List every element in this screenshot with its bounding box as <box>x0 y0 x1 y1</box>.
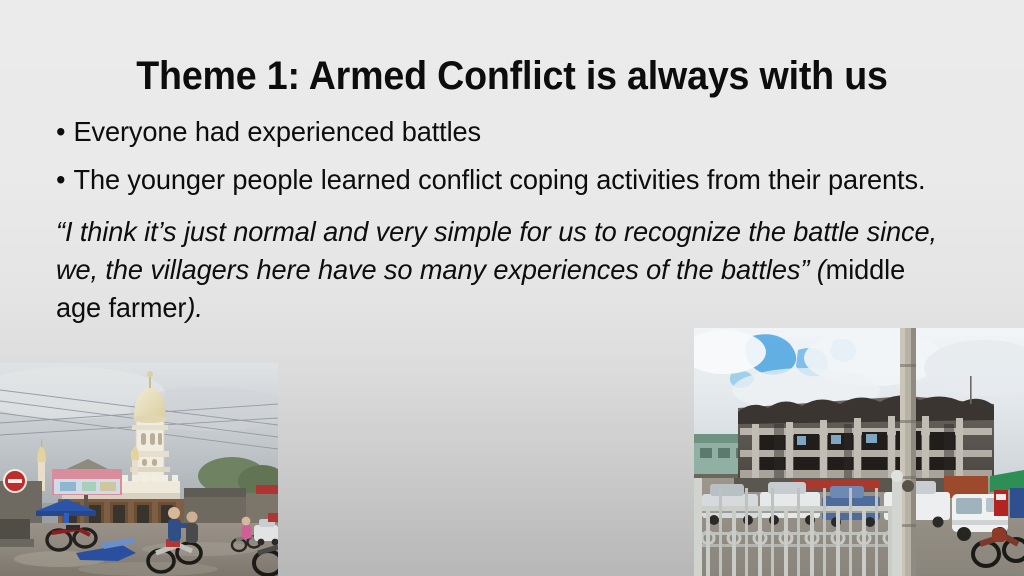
utility-pole <box>900 328 916 576</box>
pillion-passenger <box>186 512 198 544</box>
quote-text-italic: “I think it’s just normal and very simpl… <box>56 216 937 285</box>
quote-closing-punctuation: ). <box>186 292 202 323</box>
burnt-building-illustration <box>694 328 1024 576</box>
market-stall-right <box>990 470 1024 518</box>
photo-burnt-multistorey-building <box>694 328 1024 576</box>
presentation-slide: Theme 1: Armed Conflict is always with u… <box>0 0 1024 576</box>
bullet-item-1: • Everyone had experienced battles <box>56 113 958 151</box>
participant-quote: “I think it’s just normal and very simpl… <box>56 213 948 327</box>
street-scene-illustration <box>0 363 278 576</box>
bullet-marker-icon: • <box>56 113 65 151</box>
slide-body: • Everyone had experienced battles • The… <box>56 113 986 327</box>
bullet-item-1-text: Everyone had experienced battles <box>73 116 481 147</box>
bullet-item-2: • The younger people learned conflict co… <box>56 161 976 199</box>
slide-title: Theme 1: Armed Conflict is always with u… <box>31 52 994 100</box>
bullet-item-2-text: The younger people learned conflict copi… <box>73 164 925 195</box>
photo-street-scene-with-mosque <box>0 363 278 576</box>
bullet-marker-icon: • <box>56 161 65 199</box>
